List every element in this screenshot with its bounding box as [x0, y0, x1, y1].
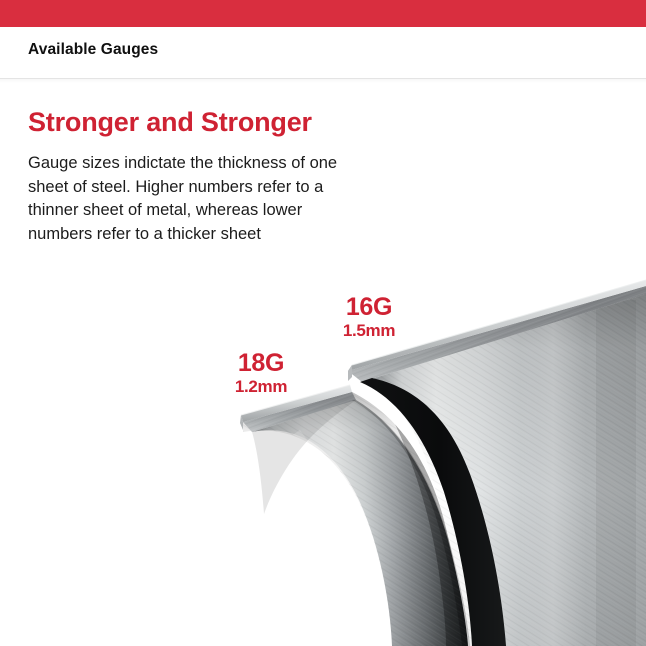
- label-16g-thickness: 1.5mm: [330, 321, 408, 341]
- steel-gauge-illustration: [0, 0, 646, 646]
- label-18g: 18G 1.2mm: [222, 350, 300, 397]
- label-18g-gauge: 18G: [222, 350, 300, 377]
- label-18g-thickness: 1.2mm: [222, 377, 300, 397]
- label-16g-gauge: 16G: [330, 294, 408, 321]
- label-16g: 16G 1.5mm: [330, 294, 408, 341]
